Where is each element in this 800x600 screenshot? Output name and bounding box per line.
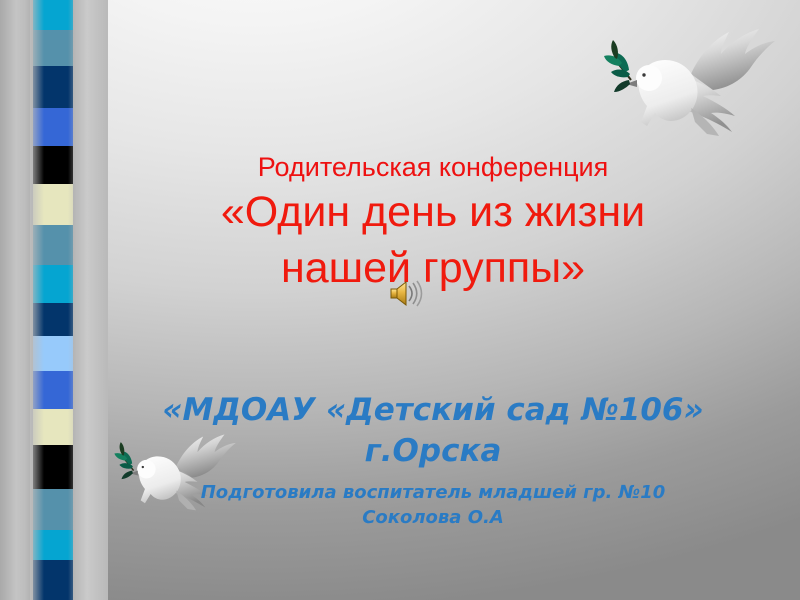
organization-block: «МДОАУ «Детский сад №106» г.Орска Подгот…: [108, 390, 758, 530]
color-stripe: [33, 303, 75, 336]
title-line-3: нашей группы»: [108, 240, 758, 296]
color-stripe: [33, 371, 75, 409]
color-stripe: [33, 30, 75, 66]
color-stripe: [33, 560, 75, 600]
author-line-2: Соколова О.А: [108, 505, 758, 530]
color-stripe: [33, 66, 75, 108]
color-stripe: [33, 409, 75, 445]
color-stripe: [33, 265, 75, 303]
color-stripe: [33, 445, 75, 489]
color-stripe: [33, 146, 75, 184]
organization-line-2: г.Орска: [108, 431, 758, 472]
band-gradient-right: [73, 0, 108, 600]
color-stripe: [33, 489, 75, 530]
title-line-2: «Один день из жизни: [108, 184, 758, 240]
band-gradient-left: [0, 0, 36, 600]
color-stripe: [33, 225, 75, 265]
author-line-1: Подготовила воспитатель младшей гр. №10: [108, 480, 758, 505]
color-stripe: [33, 0, 75, 30]
speaker-audio-icon[interactable]: [389, 277, 425, 309]
color-stripe: [33, 184, 75, 225]
dove-with-olive-branch-icon: [595, 22, 785, 142]
color-stripe: [33, 530, 75, 560]
slide-title-block: Родительская конференция «Один день из ж…: [108, 150, 758, 296]
color-stripe-column: [33, 0, 75, 600]
organization-line-1: «МДОАУ «Детский сад №106»: [108, 390, 758, 431]
left-decorative-band: [0, 0, 108, 600]
presentation-slide: Родительская конференция «Один день из ж…: [0, 0, 800, 600]
color-stripe: [33, 336, 75, 371]
color-stripe: [33, 108, 75, 146]
olive-branch-icon: [604, 40, 631, 92]
title-line-1: Родительская конференция: [108, 150, 758, 184]
